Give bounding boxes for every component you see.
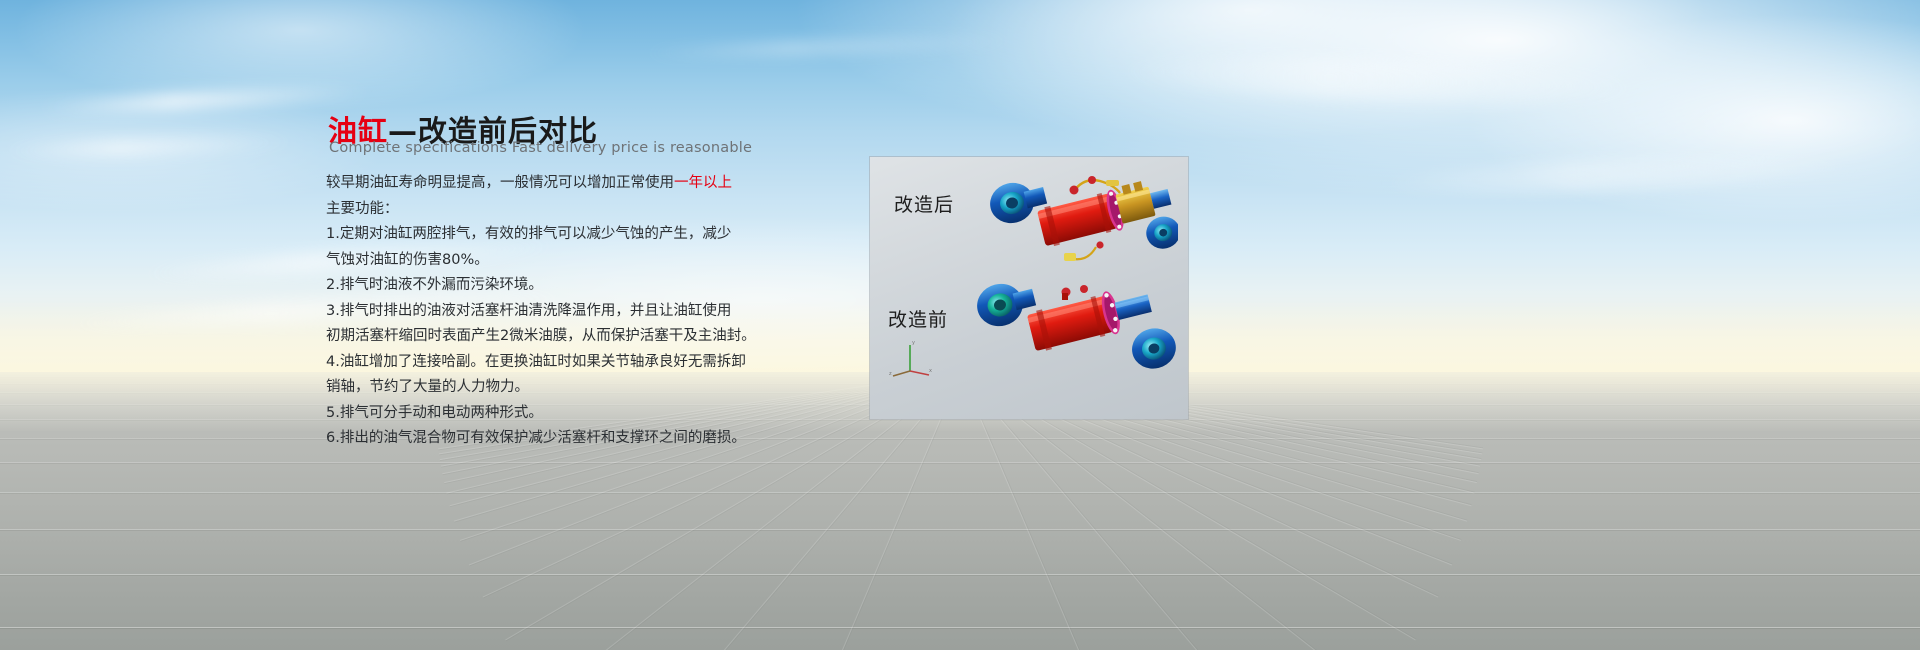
- comparison-image-panel: 改造后 改造前 y z x: [870, 157, 1188, 419]
- feature-line: 销轴，节约了大量的人力物力。: [326, 375, 746, 401]
- svg-text:x: x: [929, 368, 932, 374]
- feature-description: 较早期油缸寿命明显提高，一般情况可以增加正常使用一年以上 主要功能： 1.定期对…: [326, 171, 746, 452]
- feature-line: 5.排气可分手动和电动两种形式。: [326, 401, 746, 427]
- feature-line: 4.油缸增加了连接哈副。在更换油缸时如果关节轴承良好无需拆卸: [326, 350, 746, 376]
- lead-text: 较早期油缸寿命明显提高，一般情况可以增加正常使用: [326, 175, 674, 191]
- banner-stage: 油缸—改造前后对比 Complete specifications Fast d…: [0, 0, 1920, 650]
- section-label: 主要功能：: [326, 197, 746, 223]
- feature-line: 2.排气时油液不外漏而污染环境。: [326, 273, 746, 299]
- label-before-modification: 改造前: [888, 305, 948, 332]
- feature-line: 气蚀对油缸的伤害80%。: [326, 248, 746, 274]
- page-subtitle: Complete specifications Fast delivery pr…: [329, 140, 752, 156]
- lead-highlight: 一年以上: [674, 175, 732, 191]
- banner-content: 油缸—改造前后对比 Complete specifications Fast d…: [0, 0, 1920, 650]
- feature-line: 6.排出的油气混合物可有效保护减少活塞杆和支撑环之间的磨损。: [326, 426, 746, 452]
- svg-text:z: z: [889, 371, 892, 377]
- axis-triad-icon: y z x: [888, 337, 934, 377]
- hydraulic-cylinder-after-image: [978, 169, 1178, 277]
- feature-line: 1.定期对油缸两腔排气，有效的排气可以减少气蚀的产生，减少: [326, 222, 746, 248]
- label-after-modification: 改造后: [894, 190, 954, 217]
- lead-paragraph: 较早期油缸寿命明显提高，一般情况可以增加正常使用一年以上: [326, 171, 746, 197]
- feature-line: 初期活塞杆缩回时表面产生2微米油膜，从而保护活塞干及主油封。: [326, 324, 746, 350]
- svg-text:y: y: [912, 340, 915, 346]
- feature-line: 3.排气时排出的油液对活塞杆油清洗降温作用，并且让油缸使用: [326, 299, 746, 325]
- hydraulic-cylinder-before-image: [966, 275, 1178, 393]
